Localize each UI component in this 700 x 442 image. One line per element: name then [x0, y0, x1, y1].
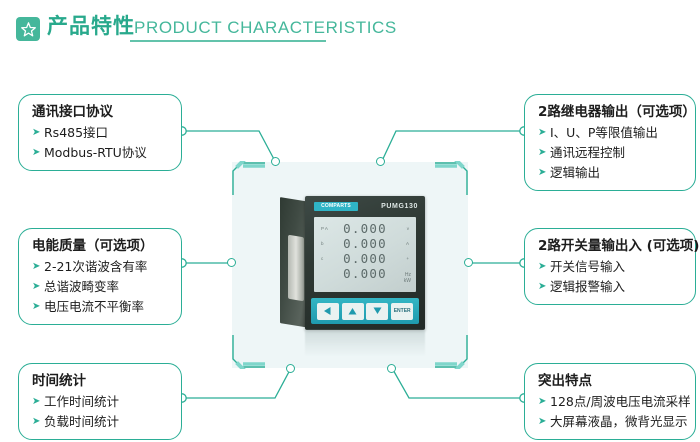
callout-title: 突出特点: [538, 371, 684, 391]
list-item: ➤ 负载时间统计: [32, 412, 170, 431]
bullet-arrow-icon: ➤: [32, 257, 42, 276]
bullet-arrow-icon: ➤: [32, 412, 42, 431]
list-item: ➤ 开关信号输入: [538, 257, 684, 276]
lcd-row-right-label: A: [406, 240, 409, 248]
callout-title: 时间统计: [32, 371, 170, 391]
list-item: ➤ Modbus-RTU协议: [32, 143, 170, 162]
list-item: ➤ 通讯远程控制: [538, 143, 684, 162]
list-item: ➤ 电压电流不平衡率: [32, 297, 170, 316]
frame-corner-top-left: [231, 161, 265, 195]
bullet-arrow-icon: ➤: [538, 257, 548, 276]
callout-relay-output[interactable]: 2路继电器输出（可选项） ➤ I、U、P等限值输出 ➤ 通讯远程控制 ➤ 逻辑输…: [524, 94, 696, 191]
list-item: ➤ 128点/周波电压电流采样: [538, 392, 684, 411]
bullet-arrow-icon: ➤: [538, 123, 548, 142]
list-item-label: 128点/周波电压电流采样: [550, 392, 691, 411]
device-lcd-display: P A 0.000 v b 0.000 A c 0.000 + 0.000: [314, 217, 416, 292]
callout-title: 电能质量（可选项）: [32, 236, 170, 256]
list-item: ➤ 工作时间统计: [32, 392, 170, 411]
callout-title: 2路继电器输出（可选项）: [538, 102, 684, 122]
frame-node-top-right: [376, 157, 385, 166]
lcd-row-left-label: c: [321, 255, 323, 263]
list-item: ➤ 逻辑报警输入: [538, 277, 684, 296]
list-item-label: 负载时间统计: [44, 412, 119, 431]
callout-title: 2路开关量输出入 (可选项): [538, 236, 684, 256]
bullet-arrow-icon: ➤: [32, 123, 42, 142]
callout-time-statistics[interactable]: 时间统计 ➤ 工作时间统计 ➤ 负载时间统计: [18, 363, 182, 440]
list-item-label: 通讯远程控制: [550, 143, 625, 162]
device-reflection: [305, 330, 425, 356]
enter-button-label: ENTER: [394, 307, 411, 315]
list-item: ➤ I、U、P等限值输出: [538, 123, 684, 142]
frame-corner-bottom-left: [231, 335, 265, 369]
callout-power-quality[interactable]: 电能质量（可选项） ➤ 2-21次谐波含有率 ➤ 总谐波畸变率 ➤ 电压电流不平…: [18, 228, 182, 325]
list-item: ➤ 大屏幕液晶，微背光显示: [538, 412, 684, 431]
lcd-row-left-label: b: [321, 240, 324, 248]
list-item: ➤ 总谐波畸变率: [32, 277, 170, 296]
list-item: ➤ 2-21次谐波含有率: [32, 257, 170, 276]
frame-node-left: [227, 258, 236, 267]
lcd-row-left-label: P A: [321, 225, 328, 233]
device-keypad: ENTER: [311, 298, 419, 324]
lcd-row-right-label: +: [406, 255, 409, 263]
frame-node-right: [464, 258, 473, 267]
bullet-arrow-icon: ➤: [32, 297, 42, 316]
list-item-label: 开关信号输入: [550, 257, 625, 276]
callout-switch-io[interactable]: 2路开关量输出入 (可选项) ➤ 开关信号输入 ➤ 逻辑报警输入: [524, 228, 696, 305]
list-item-label: 逻辑报警输入: [550, 277, 625, 296]
lcd-row-value: 0.000: [343, 251, 387, 266]
bullet-arrow-icon: ➤: [538, 143, 548, 162]
list-item: ➤ Rs485接口: [32, 123, 170, 142]
bullet-arrow-icon: ➤: [32, 143, 42, 162]
lcd-row-value: 0.000: [343, 221, 387, 236]
lcd-row: 0.000: [319, 266, 411, 281]
lcd-row-right-label: v: [407, 225, 409, 233]
frame-node-bottom-right: [387, 364, 396, 373]
lcd-row-value: 0.000: [343, 236, 387, 251]
bullet-arrow-icon: ➤: [538, 163, 548, 182]
bullet-arrow-icon: ➤: [538, 412, 548, 431]
lcd-row: P A 0.000 v: [319, 221, 411, 236]
list-item: ➤ 逻辑输出: [538, 163, 684, 182]
list-item-label: Modbus-RTU协议: [44, 143, 147, 162]
left-arrow-button[interactable]: [317, 303, 339, 320]
product-device: COMPARTS PUMG130 P A 0.000 v b 0.000 A c…: [280, 194, 430, 342]
list-item-label: 大屏幕液晶，微背光显示: [550, 412, 688, 431]
device-front-panel: COMPARTS PUMG130 P A 0.000 v b 0.000 A c…: [305, 196, 425, 330]
bullet-arrow-icon: ➤: [32, 277, 42, 296]
lcd-row-value: 0.000: [343, 266, 387, 281]
device-brand-text: COMPARTS: [321, 202, 351, 211]
enter-button[interactable]: ENTER: [391, 303, 413, 320]
lcd-unit-label: Hz kW: [404, 272, 411, 284]
bullet-arrow-icon: ➤: [32, 392, 42, 411]
callout-title: 通讯接口协议: [32, 102, 170, 122]
list-item-label: 逻辑输出: [550, 163, 600, 182]
device-brand-plate: COMPARTS: [314, 202, 358, 211]
bullet-arrow-icon: ➤: [538, 392, 548, 411]
list-item-label: I、U、P等限值输出: [550, 123, 658, 142]
lcd-row: c 0.000 +: [319, 251, 411, 266]
up-arrow-button[interactable]: [342, 303, 364, 320]
frame-corner-top-right: [435, 161, 469, 195]
callout-comm-protocol[interactable]: 通讯接口协议 ➤ Rs485接口 ➤ Modbus-RTU协议: [18, 94, 182, 171]
list-item-label: Rs485接口: [44, 123, 108, 142]
list-item-label: 电压电流不平衡率: [44, 297, 144, 316]
frame-corner-bottom-right: [435, 335, 469, 369]
product-image-frame: COMPARTS PUMG130 P A 0.000 v b 0.000 A c…: [232, 162, 468, 368]
list-item-label: 总谐波畸变率: [44, 277, 119, 296]
frame-node-bottom-left: [286, 364, 295, 373]
list-item-label: 2-21次谐波含有率: [44, 257, 147, 276]
lcd-row: b 0.000 A: [319, 236, 411, 251]
device-mounting-clip: [288, 235, 304, 302]
list-item-label: 工作时间统计: [44, 392, 119, 411]
lcd-unit-secondary: kW: [404, 278, 411, 284]
device-model-text: PUMG130: [381, 202, 418, 211]
down-arrow-button[interactable]: [366, 303, 388, 320]
callout-key-features[interactable]: 突出特点 ➤ 128点/周波电压电流采样 ➤ 大屏幕液晶，微背光显示: [524, 363, 696, 440]
bullet-arrow-icon: ➤: [538, 277, 548, 296]
frame-node-top-left: [271, 157, 280, 166]
